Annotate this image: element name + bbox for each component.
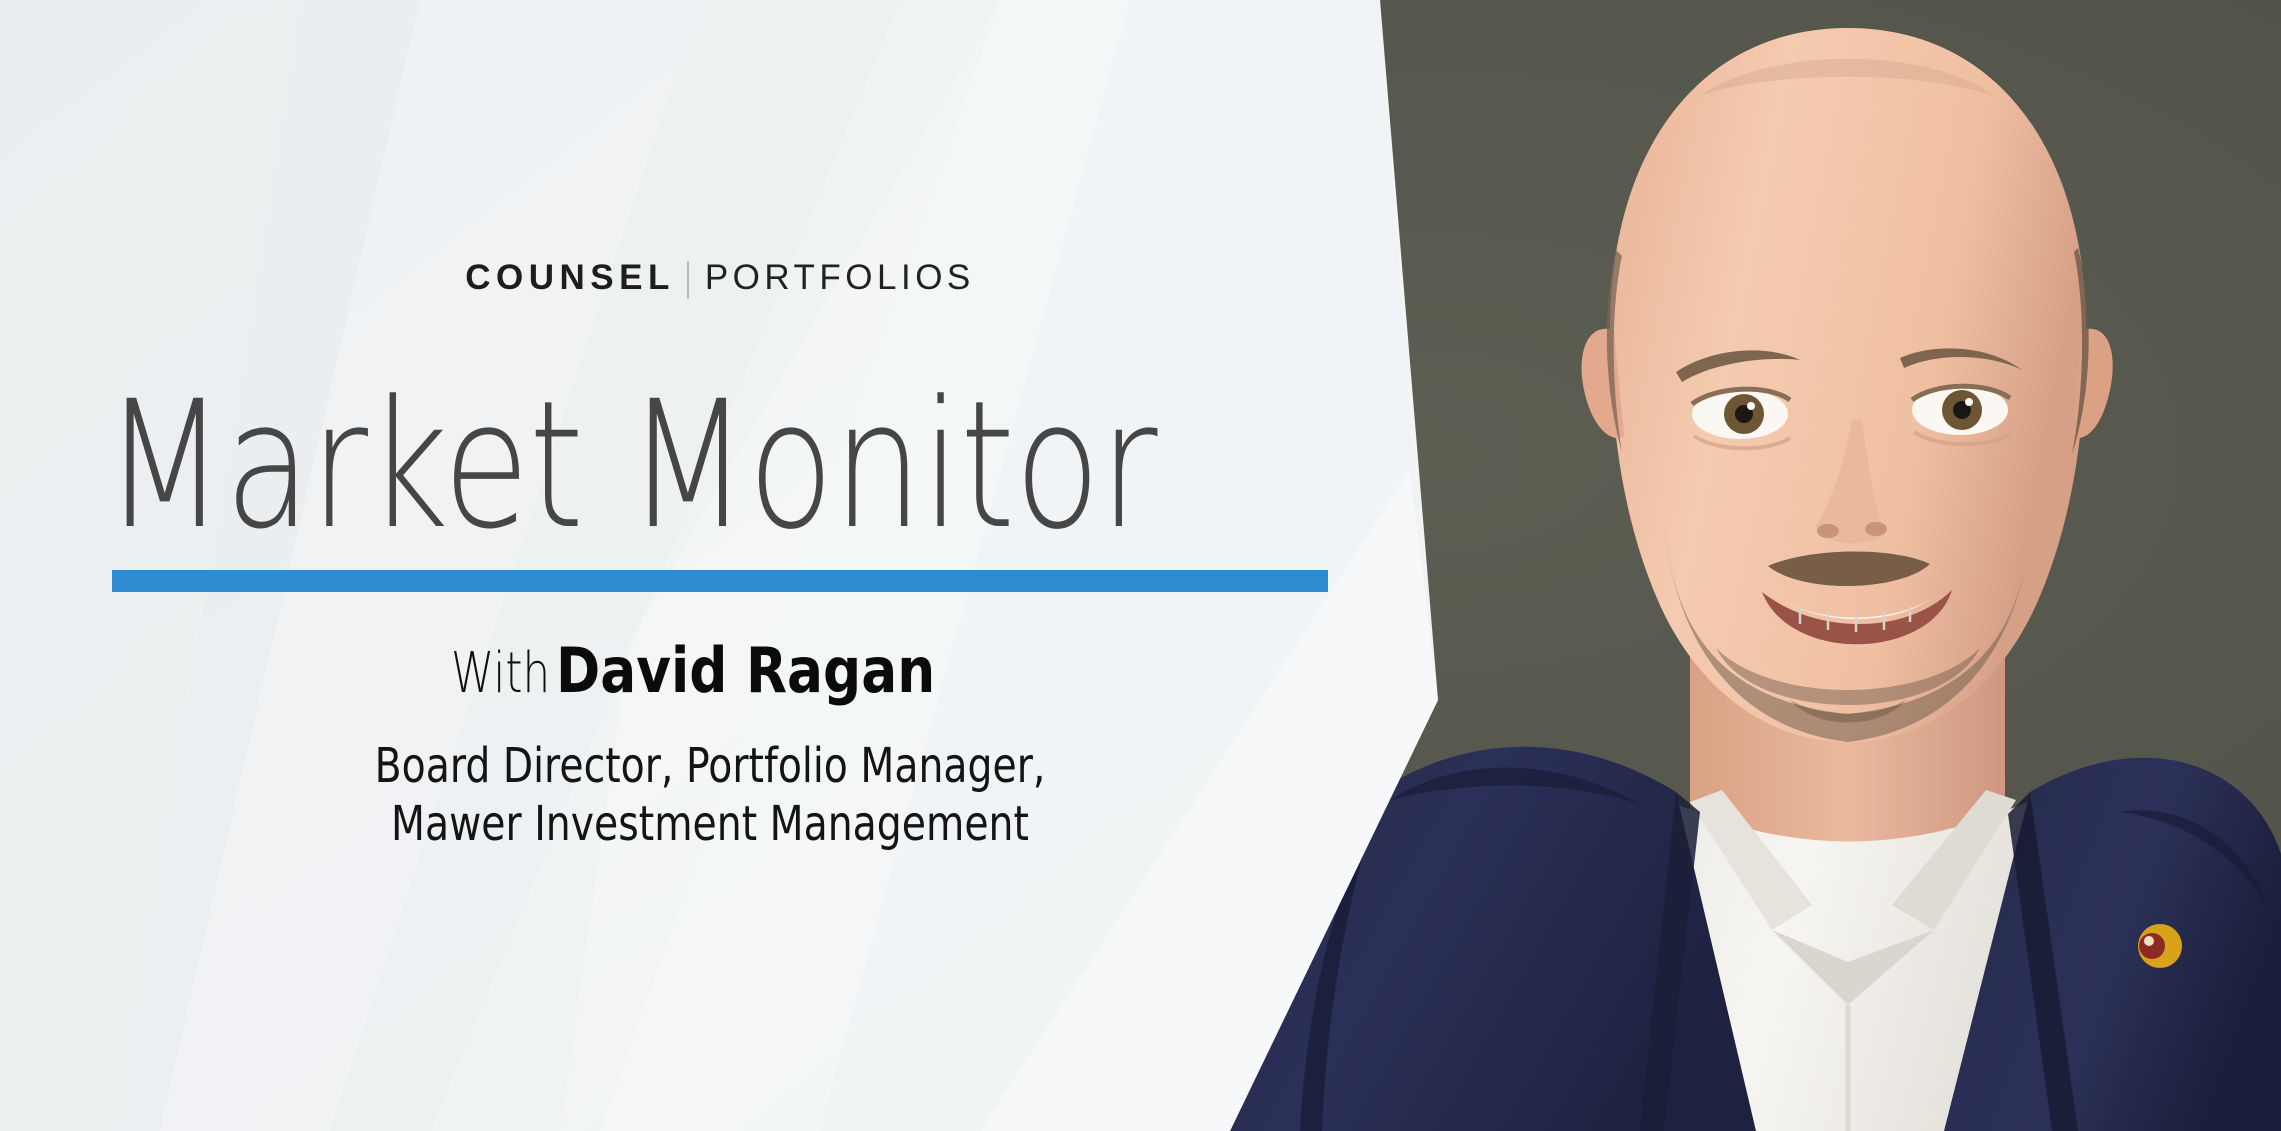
- logo-word-counsel: COUNSEL: [465, 258, 675, 297]
- logo-word-portfolios: PORTFOLIOS: [705, 258, 975, 297]
- presenter-prefix: With: [451, 641, 550, 706]
- credential-line-1: Board Director, Portfolio Manager,: [0, 737, 1420, 795]
- logo-divider: [687, 261, 689, 299]
- presenter-line: WithDavid Ragan: [0, 634, 1420, 707]
- presenter-name: David Ragan: [556, 634, 935, 707]
- presenter-credentials: Board Director, Portfolio Manager, Mawer…: [0, 737, 1420, 853]
- market-monitor-banner: COUNSELPORTFOLIOS Market Monitor WithDav…: [0, 0, 2281, 1131]
- page-title: Market Monitor: [104, 378, 1096, 554]
- credential-line-2: Mawer Investment Management: [0, 795, 1420, 853]
- title-underline-rule: [112, 570, 1328, 592]
- counsel-portfolios-logo: COUNSELPORTFOLIOS: [0, 258, 1440, 298]
- text-content: COUNSELPORTFOLIOS Market Monitor WithDav…: [0, 0, 1420, 1131]
